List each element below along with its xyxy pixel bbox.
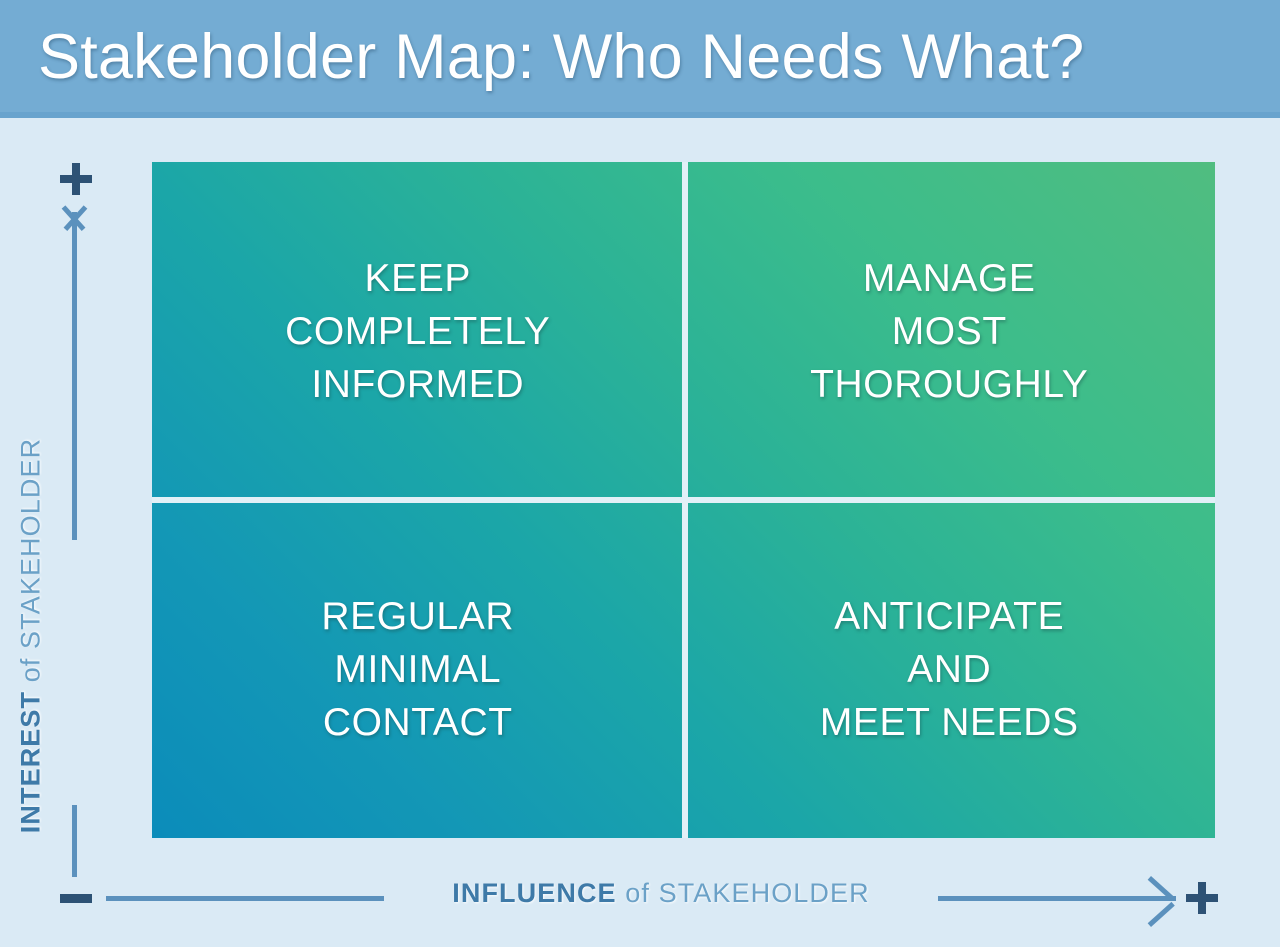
quadrant-label: REGULAR MINIMAL CONTACT xyxy=(321,590,514,749)
x-axis-label: INFLUENCE of STAKEHOLDER xyxy=(396,878,926,909)
quadrant-regular-minimal-contact[interactable]: REGULAR MINIMAL CONTACT xyxy=(152,500,684,838)
header-underline xyxy=(0,112,1280,118)
quadrant-label: KEEP COMPLETELY INFORMED xyxy=(285,252,550,411)
page-title: Stakeholder Map: Who Needs What? xyxy=(38,18,1084,96)
y-axis-label-light: of STAKEHOLDER xyxy=(16,438,46,682)
plus-icon xyxy=(1186,882,1218,914)
y-axis-line-upper xyxy=(72,212,77,540)
x-axis-label-strong: INFLUENCE xyxy=(452,878,616,908)
x-axis: INFLUENCE of STAKEHOLDER xyxy=(0,860,1280,947)
x-axis-line-right xyxy=(938,896,1176,901)
quadrant-keep-completely-informed[interactable]: KEEP COMPLETELY INFORMED xyxy=(152,162,684,500)
y-axis-label: INTEREST of STAKEHOLDER xyxy=(16,356,47,916)
quadrant-manage-most-thoroughly[interactable]: MANAGE MOST THOROUGHLY xyxy=(684,162,1216,500)
x-axis-line-left xyxy=(106,896,384,901)
y-axis-label-strong: INTEREST xyxy=(16,691,46,833)
quadrant-anticipate-and-meet-needs[interactable]: ANTICIPATE AND MEET NEEDS xyxy=(684,500,1216,838)
y-axis: INTEREST of STAKEHOLDER xyxy=(0,0,152,947)
x-axis-label-light: of STAKEHOLDER xyxy=(625,878,869,908)
quadrant-label: MANAGE MOST THOROUGHLY xyxy=(810,252,1088,411)
plus-icon xyxy=(60,163,92,195)
grid-divider-horizontal xyxy=(152,497,1215,503)
arrow-right-icon xyxy=(1146,881,1176,917)
stakeholder-matrix: KEEP COMPLETELY INFORMED MANAGE MOST THO… xyxy=(152,162,1215,838)
quadrant-label: ANTICIPATE AND MEET NEEDS xyxy=(820,590,1079,749)
